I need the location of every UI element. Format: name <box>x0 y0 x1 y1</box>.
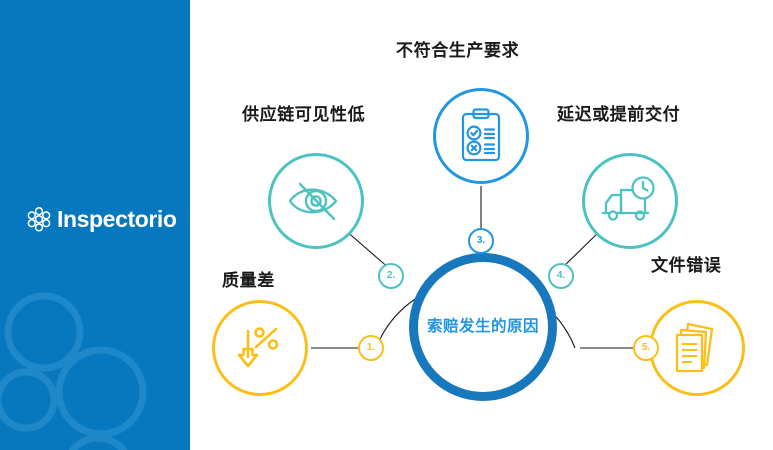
node-badge-1-text: 1. <box>367 343 375 353</box>
brand-wordmark: Inspectorio <box>57 208 177 231</box>
node-badge-4-text: 4. <box>557 271 565 281</box>
node-badge-3-text: 3. <box>477 236 485 246</box>
infographic-canvas: Inspectorio 索赔发生的原因 质量差 <box>0 0 773 450</box>
node-badge-2[interactable]: 2. <box>378 263 404 289</box>
node-badge-5-text: 5. <box>642 343 650 353</box>
node-label-4: 延迟或提前交付 <box>557 106 680 123</box>
eye-off-icon <box>286 175 346 227</box>
spoke-line-4 <box>561 230 601 269</box>
node-label-3: 不符合生产要求 <box>396 42 519 59</box>
node-badge-1[interactable]: 1. <box>358 335 384 361</box>
node-badge-2-text: 2. <box>387 271 395 281</box>
causes-diagram: 索赔发生的原因 质量差 1. 供应链可见性低 <box>190 0 773 450</box>
clipboard-checklist-icon <box>457 107 505 165</box>
documents-stack-icon <box>668 319 726 377</box>
node-label-2: 供应链可见性低 <box>242 106 365 123</box>
node-label-5: 文件错误 <box>651 257 721 274</box>
arrow-down-percent-icon <box>231 319 289 377</box>
node-badge-3[interactable]: 3. <box>468 228 494 254</box>
molecule-outline-decoration-icon <box>0 274 190 450</box>
node-circle-3[interactable] <box>433 88 529 184</box>
truck-clock-icon <box>600 175 660 227</box>
node-badge-4[interactable]: 4. <box>548 263 574 289</box>
node-label-1: 质量差 <box>222 272 275 289</box>
node-circle-1[interactable] <box>212 300 308 396</box>
spoke-line-2 <box>345 230 390 269</box>
inspectorio-molecule-icon <box>26 206 52 232</box>
hub-circle[interactable]: 索赔发生的原因 <box>409 253 557 401</box>
node-badge-5[interactable]: 5. <box>633 335 659 361</box>
brand-lockup: Inspectorio <box>26 206 177 232</box>
node-circle-2[interactable] <box>268 153 364 249</box>
node-circle-5[interactable] <box>649 300 745 396</box>
node-circle-4[interactable] <box>582 153 678 249</box>
brand-panel: Inspectorio <box>0 0 190 450</box>
hub-label: 索赔发生的原因 <box>427 317 539 336</box>
